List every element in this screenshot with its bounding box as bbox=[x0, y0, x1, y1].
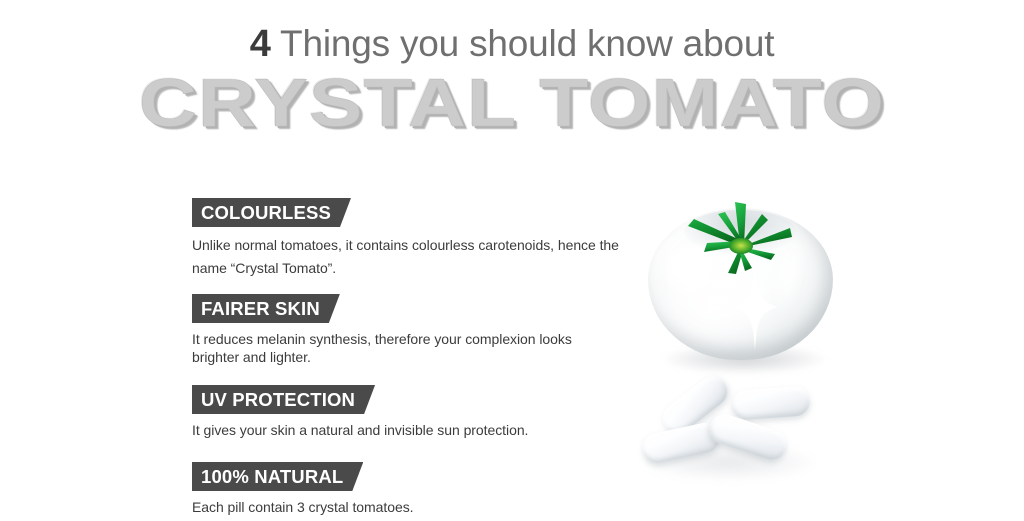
fact-body-100-natural: Each pill contain 3 crystal tomatoes. bbox=[192, 498, 622, 517]
fact-body-uv-protection: It gives your skin a natural and invisib… bbox=[192, 421, 622, 440]
crystal-tomato-icon bbox=[648, 208, 833, 368]
page-title: CRYSTAL TOMATO bbox=[0, 67, 1024, 139]
fact-badge-100-natural: 100% NATURAL bbox=[192, 462, 363, 491]
tomato-calyx-icon bbox=[674, 198, 808, 274]
list-item: 100% NATURAL Each pill contain 3 crystal… bbox=[192, 462, 622, 517]
headline-lead-text: Things you should know about bbox=[271, 23, 775, 64]
facts-list: COLOURLESS Unlike normal tomatoes, it co… bbox=[192, 198, 622, 517]
list-item: COLOURLESS Unlike normal tomatoes, it co… bbox=[192, 198, 622, 280]
fact-badge-fairer-skin: FAIRER SKIN bbox=[192, 294, 340, 323]
fact-badge-colourless: COLOURLESS bbox=[192, 198, 351, 227]
headline-count: 4 bbox=[250, 23, 271, 65]
list-item: UV PROTECTION It gives your skin a natur… bbox=[192, 385, 622, 440]
headline-block: 4 Things you should know about CRYSTAL T… bbox=[0, 22, 1024, 139]
infographic-poster: 4 Things you should know about CRYSTAL T… bbox=[0, 0, 1024, 521]
list-item: FAIRER SKIN It reduces melanin synthesis… bbox=[192, 294, 622, 366]
headline-subtitle: 4 Things you should know about bbox=[0, 22, 1024, 66]
fact-body-fairer-skin: It reduces melanin synthesis, therefore … bbox=[192, 330, 622, 366]
fact-body-colourless: Unlike normal tomatoes, it contains colo… bbox=[192, 234, 622, 280]
pill-caplet bbox=[731, 385, 811, 420]
fact-badge-uv-protection: UV PROTECTION bbox=[192, 385, 375, 414]
sparkle-icon bbox=[732, 264, 778, 350]
product-artwork bbox=[636, 186, 876, 496]
pills-cluster bbox=[636, 382, 876, 492]
